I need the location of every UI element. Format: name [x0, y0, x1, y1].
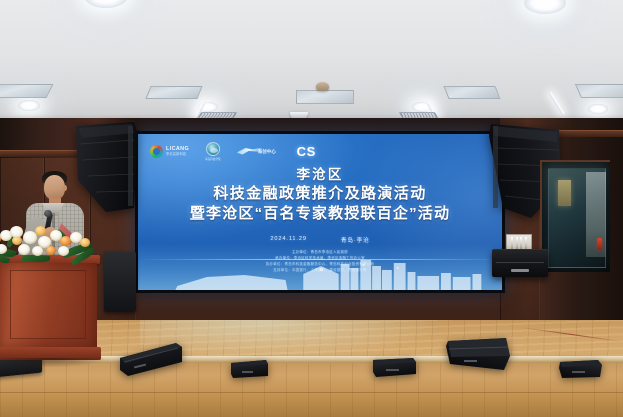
air-vent-grille — [443, 86, 500, 99]
seal-icon — [206, 142, 220, 156]
smoke-detector — [316, 82, 329, 91]
stage-monitor-wedge-large-left — [118, 336, 184, 378]
swoosh-logo-text: 海创中心 — [258, 149, 276, 154]
presenter-ear — [63, 185, 67, 191]
led-display-screen: LICANG 李沧高新科技 青岛科技学院 海创中心 CS 李沧区 科技金融政策推… — [135, 131, 505, 293]
podium-front-panel — [0, 263, 97, 349]
floor-equipment-box — [104, 252, 136, 312]
flower-bloom — [58, 246, 69, 256]
event-location: 青岛·李沧 — [341, 236, 370, 244]
auditorium-photo: LICANG 李沧高新科技 青岛科技学院 海创中心 CS 李沧区 科技金融政策推… — [0, 0, 623, 417]
mic-stand — [520, 237, 522, 249]
round-downlight — [18, 100, 40, 111]
round-downlight — [588, 104, 608, 114]
screen-title-block: 李沧区 科技金融政策推介及路演活动 暨李沧区“百名专家教授联百企”活动 — [138, 167, 502, 224]
wooden-podium — [0, 255, 100, 365]
microphone-stand-rack[interactable] — [506, 234, 532, 250]
flower-bloom — [46, 246, 56, 255]
booth-lit-panel — [558, 180, 571, 206]
stage-monitor-wedge-small-left — [228, 355, 270, 381]
institute-seal-logo: 青岛科技学院 — [205, 142, 221, 161]
flower-bloom — [80, 238, 90, 247]
swirl-icon — [150, 145, 163, 158]
stage-monitor-wedge-large-right — [442, 332, 512, 374]
microphone-head-icon — [44, 210, 52, 217]
stage-monitor-wedge-small-right — [556, 355, 604, 383]
stage-front-grain — [0, 363, 623, 417]
flower-bloom — [10, 226, 23, 238]
podium-shadow — [0, 358, 104, 367]
led-screen-surface: LICANG 李沧高新科技 青岛科技学院 海创中心 CS 李沧区 科技金融政策推… — [138, 134, 502, 290]
round-downlight — [524, 0, 566, 14]
control-booth-window — [540, 160, 610, 272]
air-vent-grille — [575, 84, 623, 98]
event-date: 2024.11.29 — [270, 236, 307, 244]
mic-stand — [516, 237, 518, 249]
subwoofer-seam — [496, 262, 544, 263]
licang-logo-subtext: 李沧高新科技 — [166, 153, 189, 156]
floor-seam — [0, 392, 623, 393]
sponsor-logo-row: LICANG 李沧高新科技 青岛科技学院 海创中心 CS — [150, 143, 316, 160]
institute-seal-caption: 青岛科技学院 — [205, 157, 221, 161]
screen-meta-row: 2024.11.29 青岛·李沧 — [138, 236, 502, 244]
subwoofer-badge — [511, 269, 529, 272]
city-skyline-graphic — [138, 244, 502, 290]
licang-logo: LICANG 李沧高新科技 — [150, 145, 189, 158]
screen-title-line-3: 暨李沧区“百名专家教授联百企”活动 — [138, 204, 502, 223]
city-skyline-silhouette-icon — [138, 256, 502, 290]
flower-bloom — [18, 244, 30, 255]
swoosh-logo: 海创中心 — [237, 145, 281, 159]
subwoofer-cabinet — [492, 249, 548, 277]
stage-monitor-wedge-small-center — [370, 352, 418, 380]
mic-stand — [511, 237, 513, 249]
flower-bloom — [35, 226, 46, 236]
fire-extinguisher — [597, 238, 602, 250]
flower-arrangement — [0, 222, 106, 266]
mic-stand — [525, 237, 527, 249]
cs-logo: CS — [297, 144, 316, 159]
booth-door[interactable] — [586, 172, 606, 257]
flower-bloom — [32, 246, 43, 256]
screen-title-line-1: 李沧区 — [138, 167, 502, 183]
ceiling — [0, 0, 623, 132]
stage-front-face — [0, 363, 623, 417]
air-vent-grille — [0, 84, 53, 98]
air-vent-grille — [296, 90, 354, 104]
linear-strip-light — [549, 92, 565, 115]
screen-title-line-2: 科技金融政策推介及路演活动 — [138, 184, 502, 203]
podium-panel-inset — [10, 270, 86, 339]
presenter-head — [44, 175, 65, 200]
round-downlight — [84, 0, 128, 8]
air-vent-grille — [145, 86, 202, 99]
